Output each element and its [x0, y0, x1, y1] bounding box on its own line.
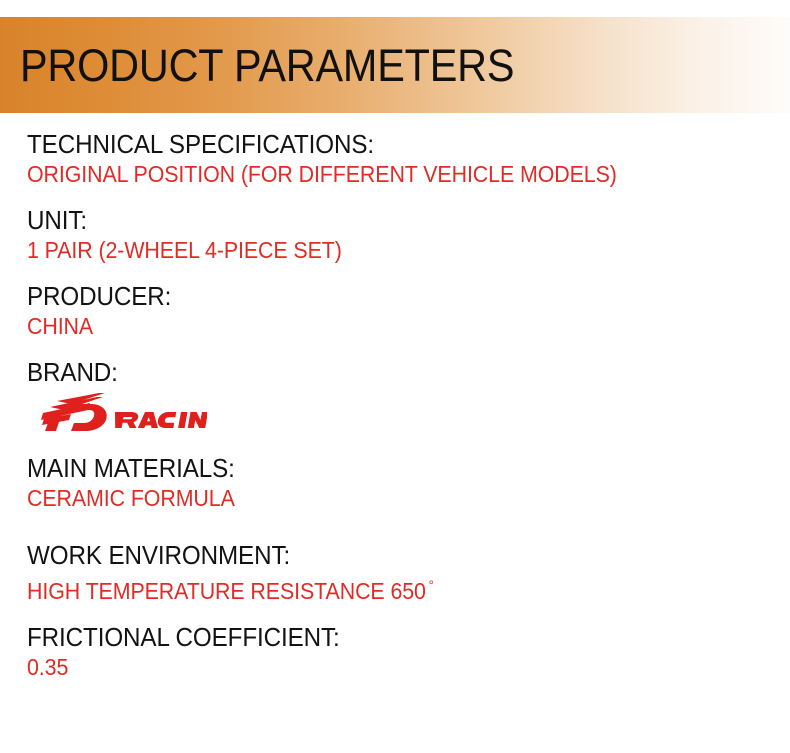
spec-row-technical-specifications: TECHNICAL SPECIFICATIONS: ORIGINAL POSIT… — [27, 128, 767, 189]
spec-list: TECHNICAL SPECIFICATIONS: ORIGINAL POSIT… — [27, 128, 767, 697]
fd-racing-logo-icon — [27, 392, 207, 432]
spec-row-work-environment: WORK ENVIRONMENT: HIGH TEMPERATURE RESIS… — [27, 539, 767, 606]
spec-label: PRODUCER: — [27, 280, 715, 312]
spec-row-brand: BRAND: — [27, 356, 767, 437]
degree-symbol: ° — [429, 577, 434, 593]
spec-row-unit: UNIT: 1 PAIR (2-WHEEL 4-PIECE SET) — [27, 204, 767, 265]
header-banner: PRODUCT PARAMETERS — [0, 17, 790, 113]
spec-value: ORIGINAL POSITION (FOR DIFFERENT VEHICLE… — [27, 160, 715, 189]
spec-label: WORK ENVIRONMENT: — [27, 539, 715, 571]
page-title: PRODUCT PARAMETERS — [20, 43, 514, 88]
spec-label: TECHNICAL SPECIFICATIONS: — [27, 128, 715, 160]
spec-row-main-materials: MAIN MATERIALS: CERAMIC FORMULA — [27, 452, 767, 513]
spec-row-producer: PRODUCER: CHINA — [27, 280, 767, 341]
spec-label: UNIT: — [27, 204, 715, 236]
spec-label: MAIN MATERIALS: — [27, 452, 715, 484]
spec-value: CERAMIC FORMULA — [27, 484, 715, 513]
spec-value-text: HIGH TEMPERATURE RESISTANCE 650 — [27, 578, 426, 604]
spec-value: 1 PAIR (2-WHEEL 4-PIECE SET) — [27, 236, 715, 265]
spec-value: HIGH TEMPERATURE RESISTANCE 650° — [27, 571, 715, 606]
spec-value: 0.35 — [27, 653, 715, 682]
spec-value: CHINA — [27, 312, 715, 341]
spec-label: FRICTIONAL COEFFICIENT: — [27, 621, 715, 653]
spec-label: BRAND: — [27, 356, 715, 388]
product-parameters-page: PRODUCT PARAMETERS TECHNICAL SPECIFICATI… — [0, 0, 790, 753]
spec-row-frictional-coefficient: FRICTIONAL COEFFICIENT: 0.35 — [27, 621, 767, 682]
